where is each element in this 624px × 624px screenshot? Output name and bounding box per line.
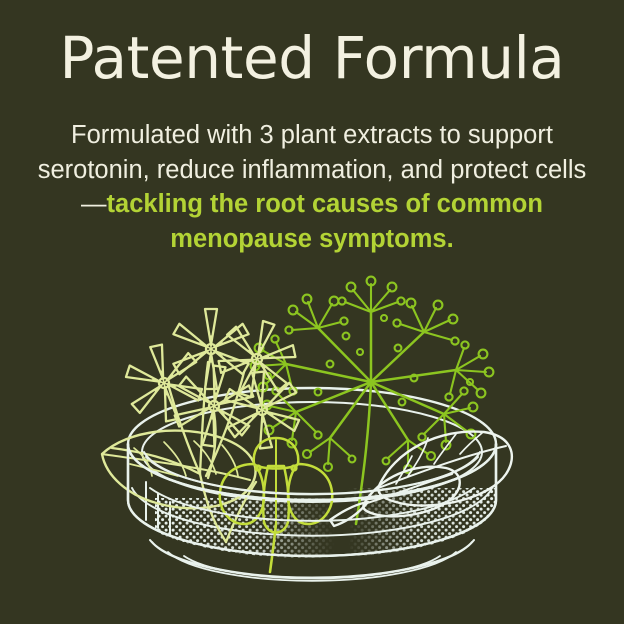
floret-upper-left (285, 295, 347, 334)
subcopy-paragraph: Formulated with 3 plant extracts to supp… (34, 118, 590, 256)
promo-card: Patented Formula Formulated with 3 plant… (0, 0, 624, 624)
page-title: Patented Formula (0, 26, 624, 90)
floret-upper-right (393, 299, 458, 345)
petri-dish-illustration (0, 252, 624, 624)
floret-top (338, 277, 404, 312)
umbel-rays (251, 277, 494, 473)
dish-front-foot-2 (184, 556, 440, 579)
star-flower (121, 338, 207, 427)
subcopy-highlight-text: tackling the root causes of common menop… (107, 190, 543, 253)
